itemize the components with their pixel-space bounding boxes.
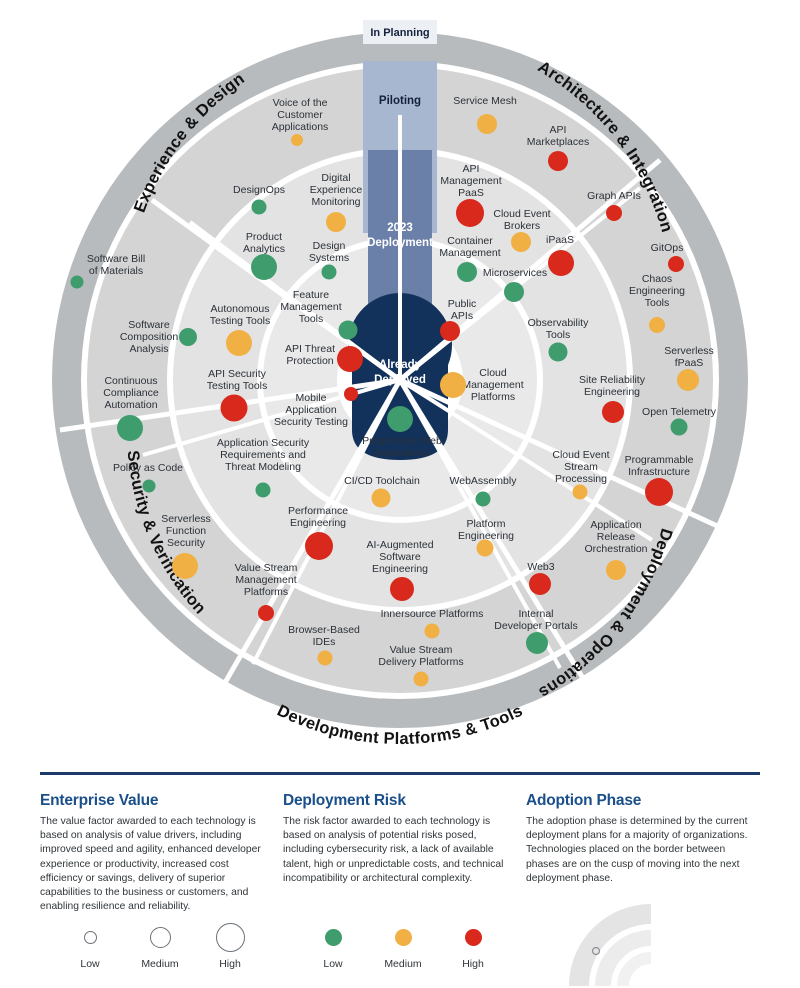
blip-label: iPaaS xyxy=(546,234,574,246)
scale-item-value-medium: Medium xyxy=(125,920,195,970)
blip-dot[interactable] xyxy=(305,532,333,560)
blip-dot[interactable] xyxy=(291,134,303,146)
blip-label: Developer Portals xyxy=(494,620,577,632)
legend-column-deployment-risk: Deployment Risk The risk factor awarded … xyxy=(283,792,526,914)
blip-label: Cloud xyxy=(479,367,507,379)
blip-label: Management xyxy=(439,247,500,259)
blip-label: PaaS xyxy=(458,187,484,199)
blip-label: Software Bill xyxy=(87,253,145,265)
blip-label: Analysis xyxy=(129,343,168,355)
blip-label: Platform xyxy=(466,518,505,530)
blip-dot[interactable] xyxy=(339,321,358,340)
blip-label: Observability xyxy=(528,317,589,329)
blip-label: Continuous xyxy=(104,375,157,387)
blip-dot[interactable] xyxy=(252,200,267,215)
scale-caption: Low xyxy=(323,958,342,970)
blip-label: Microservices xyxy=(483,267,547,279)
blip-dot[interactable] xyxy=(390,577,414,601)
blip-label: Feature xyxy=(293,289,329,301)
blip-label: Tools xyxy=(546,329,571,341)
blip-label: Analytics xyxy=(243,243,285,255)
blip-label: Mobile xyxy=(296,392,327,404)
blip-dot[interactable] xyxy=(226,330,252,356)
blip-label: fPaaS xyxy=(675,357,704,369)
blip-label: Protection xyxy=(286,355,333,367)
legend-body-adoption-phase: The adoption phase is determined by the … xyxy=(526,815,755,886)
blip-label: Browser-Based xyxy=(288,624,360,636)
blip-label: Tools xyxy=(645,297,670,309)
blip-dot[interactable] xyxy=(71,276,84,289)
blip-label: API xyxy=(463,163,480,175)
blip-label: Management xyxy=(462,379,523,391)
blip-dot[interactable] xyxy=(511,232,531,252)
blip-dot[interactable] xyxy=(440,321,460,341)
scale-caption: Low xyxy=(80,958,99,970)
blip-label: Application xyxy=(590,519,642,531)
blip-dot[interactable] xyxy=(117,415,143,441)
blip-dot[interactable] xyxy=(549,343,568,362)
blip-label: Brokers xyxy=(504,220,540,232)
blip-dot[interactable] xyxy=(477,114,497,134)
blip-label: Applications xyxy=(272,121,329,133)
blip-label: API Threat xyxy=(285,343,335,355)
circle-outline-large-icon xyxy=(216,920,245,954)
scale-item-risk-high: High xyxy=(438,920,508,970)
blip-label: Performance xyxy=(288,505,348,517)
blip-dot[interactable] xyxy=(457,262,477,282)
blip-label: Tools xyxy=(299,313,324,325)
phase-label-2023-line1: 2023 xyxy=(387,222,413,234)
blip-label: Automation xyxy=(104,399,157,411)
blip-label: of Materials xyxy=(89,265,143,277)
blip-label: API Security xyxy=(208,368,267,380)
blip-dot[interactable] xyxy=(344,387,358,401)
legend-section: Enterprise Value The value factor awarde… xyxy=(0,760,800,988)
blip-label: Value Stream xyxy=(235,562,298,574)
blip-label: Innersource Platforms xyxy=(381,608,484,620)
blip-label: Application xyxy=(285,404,337,416)
blip-dot[interactable] xyxy=(221,395,248,422)
blip-label: IDEs xyxy=(313,636,336,648)
blip-label: Serverless xyxy=(161,513,211,525)
blip-label: Security xyxy=(167,537,206,549)
blip-label: Cloud Event xyxy=(552,449,609,461)
scale-item-value-high: High xyxy=(195,920,265,970)
blip-dot[interactable] xyxy=(573,485,588,500)
blip-label: CI/CD Toolchain xyxy=(344,475,420,487)
blip-label: Container xyxy=(447,235,493,247)
scale-item-risk-low: Low xyxy=(298,920,368,970)
blip-label: Management xyxy=(235,574,296,586)
blip-label: Programmable xyxy=(625,454,694,466)
blip-label: Software xyxy=(128,319,170,331)
legend-column-adoption-phase: Adoption Phase The adoption phase is det… xyxy=(526,792,769,914)
blip-label: Web3 xyxy=(527,561,554,573)
blip-dot[interactable] xyxy=(179,328,197,346)
blip-label: Composition xyxy=(120,331,179,343)
blip-label: Service Mesh xyxy=(453,95,517,107)
adoption-phase-mini-diagram xyxy=(565,900,695,986)
blip-label: Compliance xyxy=(103,387,159,399)
blip-label: Platforms xyxy=(244,586,288,598)
blip-label: Serverless xyxy=(664,345,714,357)
blip-label: Engineering xyxy=(290,517,346,529)
blip-label: Internal xyxy=(518,608,553,620)
blip-label: Testing Tools xyxy=(210,315,271,327)
blip-dot[interactable] xyxy=(606,560,626,580)
blip-dot[interactable] xyxy=(645,478,673,506)
blip-label: Engineering xyxy=(629,285,685,297)
phase-label-deployed-line2: Deployed xyxy=(374,374,426,386)
dot-green-icon xyxy=(325,920,342,954)
blip-label: Engineering xyxy=(584,386,640,398)
blip-label: Application Security xyxy=(217,437,310,449)
blip-label: Infrastructure xyxy=(628,466,690,478)
blip-dot[interactable] xyxy=(425,624,440,639)
blip-label: DesignOps xyxy=(233,184,285,196)
blip-dot[interactable] xyxy=(526,632,548,654)
mini-radar-arcs xyxy=(569,904,651,986)
blip-label: Stream xyxy=(564,461,598,473)
blip-dot[interactable] xyxy=(649,317,665,333)
blip-label: GitOps xyxy=(651,242,684,254)
blip-dot[interactable] xyxy=(456,199,484,227)
blip-dot[interactable] xyxy=(387,406,413,432)
technology-radar-chart: In Planning Piloting 2023 Deployment Alr… xyxy=(0,0,800,760)
phase-label-deployed-line1: Already xyxy=(379,359,422,371)
blip-label: Site Reliability xyxy=(579,374,646,386)
blip-dot[interactable] xyxy=(143,480,156,493)
blip-label: Graph APIs xyxy=(587,190,641,202)
blip-label: Software xyxy=(379,551,421,563)
scale-caption: Medium xyxy=(384,958,421,970)
blip-label: Monitoring xyxy=(311,196,360,208)
legend-title-enterprise-value: Enterprise Value xyxy=(40,792,269,810)
blip-dot[interactable] xyxy=(671,419,688,436)
blip-dot[interactable] xyxy=(504,282,524,302)
legend-scale-enterprise-value: Low Medium High xyxy=(55,920,265,970)
blip-label: Orchestration xyxy=(584,543,647,555)
scale-caption: High xyxy=(219,958,241,970)
blip-label: Voice of the xyxy=(273,97,328,109)
blip-label: Product xyxy=(246,231,282,243)
blip-label: Platforms xyxy=(471,391,515,403)
dot-red-icon xyxy=(465,920,482,954)
blip-label: APIs xyxy=(451,310,473,322)
legend-body-enterprise-value: The value factor awarded to each technol… xyxy=(40,815,269,914)
scale-item-value-low: Low xyxy=(55,920,125,970)
blip-label: Delivery Platforms xyxy=(378,656,463,668)
blip-dot[interactable] xyxy=(602,401,624,423)
phase-label-2023-line2: Deployment xyxy=(367,237,433,249)
blip-label: Management xyxy=(280,301,341,313)
blip-label: Applications xyxy=(374,447,431,459)
blip-dot[interactable] xyxy=(529,573,551,595)
blip-dot[interactable] xyxy=(440,372,466,398)
blip-dot[interactable] xyxy=(677,369,699,391)
blip-dot[interactable] xyxy=(372,489,391,508)
radar-svg: In Planning Piloting 2023 Deployment Alr… xyxy=(0,0,800,760)
scale-caption: Medium xyxy=(141,958,178,970)
blip-label: Requirements and xyxy=(220,449,306,461)
phase-label-in-planning: In Planning xyxy=(370,27,429,39)
blip-label: Threat Modeling xyxy=(225,461,301,473)
blip-dot[interactable] xyxy=(172,553,198,579)
blip-label: Testing Tools xyxy=(207,380,268,392)
legend-divider xyxy=(40,772,760,775)
blip-label: Digital xyxy=(321,172,350,184)
blip-label: Value Stream xyxy=(390,644,453,656)
scale-item-risk-medium: Medium xyxy=(368,920,438,970)
blip-label: Function xyxy=(166,525,206,537)
blip-dot[interactable] xyxy=(258,605,274,621)
blip-dot[interactable] xyxy=(477,540,494,557)
legend-title-adoption-phase: Adoption Phase xyxy=(526,792,755,810)
blip-label: Autonomous xyxy=(211,303,270,315)
blip-dot[interactable] xyxy=(668,256,684,272)
blip-label: Processing xyxy=(555,473,607,485)
blip-dot[interactable] xyxy=(256,483,271,498)
blip-label: Design xyxy=(313,240,346,252)
blip-dot[interactable] xyxy=(251,254,277,280)
legend-scale-deployment-risk: Low Medium High xyxy=(298,920,508,970)
blip-label: Chaos xyxy=(642,273,672,285)
blip-dot[interactable] xyxy=(414,672,429,687)
blip-dot[interactable] xyxy=(318,651,333,666)
legend-body-deployment-risk: The risk factor awarded to each technolo… xyxy=(283,815,512,886)
blip-label: Security Testing xyxy=(274,416,348,428)
circle-outline-small-icon xyxy=(84,920,97,954)
blip-label: Cloud Event xyxy=(493,208,550,220)
blip-dot[interactable] xyxy=(476,492,491,507)
blip-label: Marketplaces xyxy=(527,136,589,148)
blip-label: Release xyxy=(597,531,636,543)
blip-label: Engineering xyxy=(372,563,428,575)
blip-label: Policy as Code xyxy=(113,462,183,474)
phase-label-piloting: Piloting xyxy=(379,95,421,107)
legend-column-enterprise-value: Enterprise Value The value factor awarde… xyxy=(40,792,283,914)
blip-label: WebAssembly xyxy=(450,475,518,487)
blip-label: Public xyxy=(448,298,477,310)
blip-dot[interactable] xyxy=(326,212,346,232)
blip-dot[interactable] xyxy=(548,151,568,171)
blip-label: Open Telemetry xyxy=(642,406,717,418)
blip-label: AI-Augmented xyxy=(366,539,433,551)
blip-dot[interactable] xyxy=(606,205,622,221)
blip-dot[interactable] xyxy=(337,346,363,372)
blip-label: Progressive Web xyxy=(362,435,442,447)
blip-label: Customer xyxy=(277,109,323,121)
blip-label: Management xyxy=(440,175,501,187)
blip-label: Experience xyxy=(310,184,363,196)
legend-title-deployment-risk: Deployment Risk xyxy=(283,792,512,810)
blip-dot[interactable] xyxy=(548,250,574,276)
scale-caption: High xyxy=(462,958,484,970)
blip-label: Systems xyxy=(309,252,349,264)
blip-label: API xyxy=(550,124,567,136)
dot-amber-icon xyxy=(395,920,412,954)
circle-outline-medium-icon xyxy=(150,920,171,954)
blip-dot[interactable] xyxy=(322,265,337,280)
